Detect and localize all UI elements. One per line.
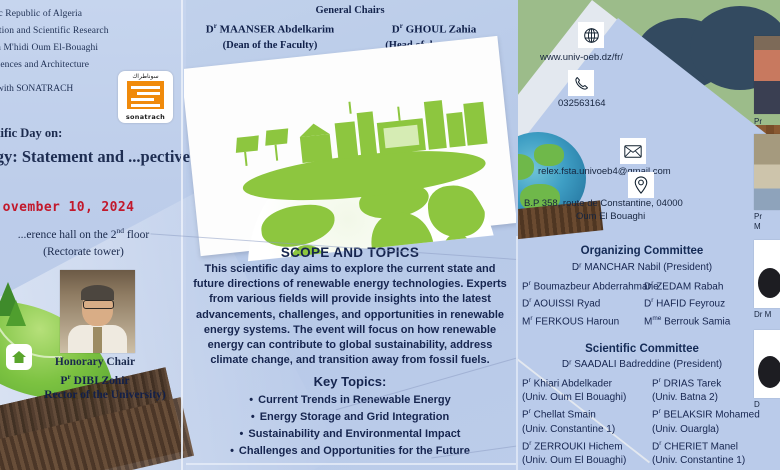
continent-shape [426, 182, 487, 240]
center-column: General Chairs Dr MAANSER Abdelkarim (De… [184, 0, 516, 470]
speaker-caption: Pr [754, 212, 780, 221]
event-venue: ...erence hall on the 2nd floor (Rectora… [0, 222, 191, 261]
speaker-photo-strip: Pr Pr M Dr M D [754, 0, 780, 470]
scientific-day-label: ...ntific Day on: [0, 126, 62, 141]
postal-address-line-1: B.P 358, route de Constantine, 04000 [524, 198, 683, 209]
list-item: Dr CHERIET Manel [652, 437, 760, 454]
building [335, 121, 359, 159]
general-chair-1-name: Dr MAANSER Abdelkarim [190, 22, 350, 36]
speaker-photo [754, 134, 780, 210]
list-item: Pr DRIAS Tarek [652, 374, 760, 391]
honorary-chair-role: Honorary Chair [0, 356, 190, 368]
list-item: Pr Khiari Abdelkader [522, 374, 626, 391]
phone-icon[interactable] [568, 70, 594, 96]
avatar-glasses [83, 300, 114, 309]
member-name: FERKOUS Haroun [533, 316, 620, 327]
avatar-tie [93, 327, 102, 353]
map-pin-icon[interactable] [628, 172, 654, 198]
list-item: Pr BELAKSIR Mohamed [652, 405, 760, 422]
member-affiliation: (Univ. Oum El Bouaghi) [522, 454, 626, 468]
chair-2-prefix: D [392, 24, 400, 36]
building [424, 100, 447, 150]
postal-address-line-2: Oum El Bouaghi [576, 211, 645, 222]
sonatrach-wordmark: sonatrach [118, 113, 173, 121]
list-item: Dr ZEDAM Rabah [644, 277, 730, 294]
left-column: ...ratic Republic of Algeria ...ucation … [0, 0, 182, 470]
chair-1-name-text: MAANSER Abdelkarim [217, 24, 334, 36]
scientific-committee-left-members: Pr Khiari Abdelkader (Univ. Oum El Bouag… [522, 374, 626, 468]
speaker-caption: Dr M [754, 310, 780, 319]
header-line-1: ...ratic Republic of Algeria [0, 6, 178, 23]
speaker-caption: Pr [754, 117, 780, 126]
avatar-hair [81, 285, 114, 300]
building [463, 102, 487, 146]
wind-turbine-pole [397, 107, 400, 121]
list-item: Dr AOUISSI Ryad [522, 294, 659, 311]
chair-1-prefix: D [206, 24, 214, 36]
venue-line-1-end: floor [124, 229, 149, 241]
organizing-committee-right-members: Dr ZEDAM Rabah Dr HAFID Feyrouz Mme Berr… [644, 277, 730, 329]
general-chair-2-name: Dr GHOUL Zahia [354, 22, 514, 36]
key-topics-list: Current Trends in Renewable Energy Energ… [184, 392, 516, 460]
member-name: ZERROUKI Hichem [531, 441, 622, 452]
building-window [383, 125, 419, 148]
horizontal-divider [186, 463, 516, 465]
honorary-chair-name: Pr DIBI Zohir [0, 372, 190, 387]
general-chair-1-role: (Dean of the Faculty) [190, 40, 350, 51]
solar-panel-icon [236, 135, 259, 152]
venue-ordinal-sup: nd [116, 226, 124, 235]
member-name: Khiari Abdelkader [531, 378, 612, 389]
chair-2-name-text: GHOUL Zahia [403, 24, 476, 36]
list-item: Dr HAFID Feyrouz [644, 294, 730, 311]
sonatrach-logo: سوناطراك sonatrach [118, 71, 173, 123]
event-date: ...ovember 10, 2024 [0, 200, 134, 215]
list-item: Pr Boumazbeur Abderrahmane [522, 277, 659, 294]
scientific-committee-right-members: Pr DRIAS Tarek (Univ. Batna 2) Pr BELAKS… [652, 374, 760, 468]
member-prefix: P [522, 378, 529, 389]
building [357, 111, 378, 156]
speaker-photo [754, 240, 780, 308]
poster-canvas: ...ratic Republic of Algeria ...ucation … [0, 0, 780, 470]
member-name: DRIAS Tarek [661, 378, 721, 389]
building-house [300, 134, 333, 163]
speaker-caption: D [754, 400, 780, 409]
scientific-committee-title: Scientific Committee [526, 343, 758, 355]
organizing-committee-president: Dʳ MANCHAR Nabil (President) [526, 262, 758, 273]
speaker-caption: M [754, 222, 780, 231]
sonatrach-arabic-text: سوناطراك [118, 73, 173, 80]
member-name: ZEDAM Rabah [653, 281, 723, 292]
key-topics-title: Key Topics: [184, 374, 516, 389]
member-name: AOUISSI Ryad [531, 299, 600, 310]
member-affiliation: (Univ. Constantine 1) [652, 454, 760, 468]
member-affiliation: (Univ. Constantine 1) [522, 423, 626, 437]
list-item: Current Trends in Renewable Energy [184, 392, 516, 409]
wind-turbine-pole [348, 102, 351, 114]
member-affiliation: (Univ. Oum El Bouaghi) [522, 391, 626, 405]
header-line-2: ...ucation and Scientific Research [0, 23, 178, 40]
list-item: Dr ZERROUKI Hichem [522, 437, 626, 454]
scientific-committee-president: Dʳ SAADALI Badreddine (President) [526, 359, 758, 370]
member-prefix: P [652, 378, 659, 389]
vertical-divider-right [516, 236, 518, 470]
member-name: CHERIET Manel [661, 441, 738, 452]
list-item: Energy Storage and Grid Integration [184, 409, 516, 426]
globe-icon[interactable] [578, 22, 604, 48]
member-name: HAFID Feyrouz [653, 299, 725, 310]
phone-number[interactable]: 032563164 [558, 98, 606, 109]
event-title: ...rgy: Statement and ...pective [0, 145, 191, 169]
organizing-committee-left-members: Pr Boumazbeur Abderrahmane Dr AOUISSI Ry… [522, 277, 659, 329]
list-item: Mr FERKOUS Haroun [522, 312, 659, 329]
venue-line-2: (Rectorate tower) [43, 246, 124, 258]
member-prefix: P [652, 410, 659, 421]
speaker-photo [754, 330, 780, 398]
list-item: Mme Berrouk Samia [644, 312, 730, 329]
building [446, 112, 465, 147]
member-prefix: P [522, 281, 529, 292]
list-item: Sustainability and Environmental Impact [184, 426, 516, 443]
honorary-chair-affiliation: Rector of the University) [0, 389, 210, 401]
scope-description: This scientific day aims to explore the … [188, 262, 512, 368]
avatar-silhouette [758, 268, 780, 298]
member-name: Chellat Smain [531, 410, 596, 421]
member-name: BELAKSIR Mohamed [661, 410, 760, 421]
organizing-committee-title: Organizing Committee [526, 245, 758, 257]
list-item: Pr Chellat Smain [522, 405, 626, 422]
institution-header: ...ratic Republic of Algeria ...ucation … [0, 6, 178, 74]
green-globe-illustration [185, 44, 515, 266]
member-name: Boumazbeur Abderrahmane [531, 281, 659, 292]
avatar-silhouette [758, 356, 780, 388]
sonatrach-mark [127, 81, 164, 109]
speaker-photo [754, 36, 780, 114]
solar-panel-icon [265, 128, 288, 145]
member-affiliation: (Univ. Ouargla) [652, 423, 760, 437]
envelope-icon[interactable] [620, 138, 646, 164]
member-name: Berrouk Samia [661, 316, 730, 327]
right-column: www.univ-oeb.dz/fr/ 032563164 relex.fsta… [518, 0, 780, 470]
solar-panel-pole [275, 145, 279, 161]
member-affiliation: (Univ. Batna 2) [652, 391, 760, 405]
member-prefix: P [522, 410, 529, 421]
solar-panel-pole [244, 152, 247, 166]
honorary-chair-photo [60, 270, 135, 353]
honorary-name-text: DIBI Zohir [71, 375, 130, 387]
venue-line-1: ...erence hall on the 2 [18, 229, 117, 241]
general-chairs-label: General Chairs [184, 5, 516, 16]
header-line-3: ...Ben M'hidi Oum El-Bouaghi [0, 40, 178, 57]
website-url[interactable]: www.univ-oeb.dz/fr/ [540, 52, 623, 63]
